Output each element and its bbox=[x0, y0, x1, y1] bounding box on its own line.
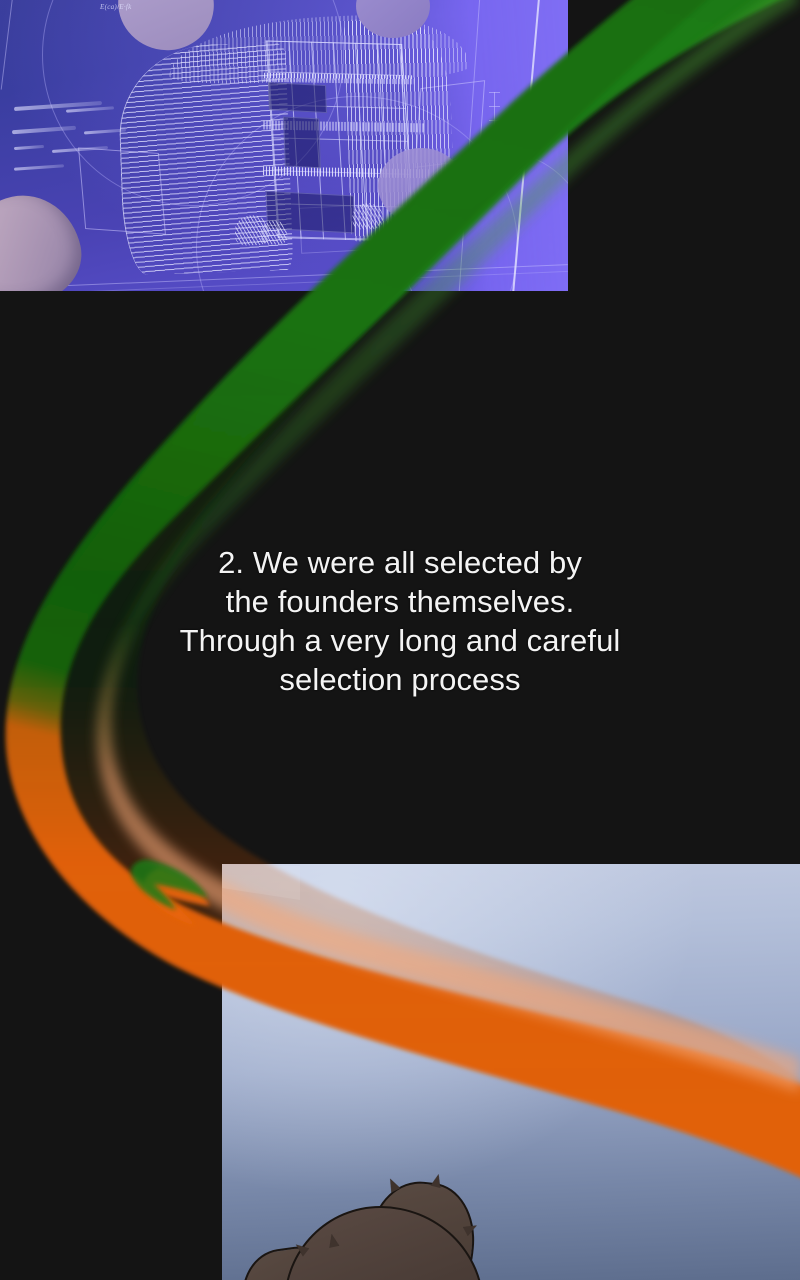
ribbon-fold-flick bbox=[144, 868, 210, 926]
caption-line: 2. We were all selected by bbox=[0, 543, 800, 582]
comic-page: E(ca)/E·fk bbox=[0, 0, 800, 1280]
building-shrub bbox=[352, 203, 383, 230]
building-window-dark bbox=[283, 116, 321, 168]
building-entrance bbox=[268, 82, 327, 113]
blueprint-note-label: E(ca)/E·fk bbox=[100, 3, 132, 11]
ribbon-fold-green bbox=[131, 860, 208, 910]
caption-line: the founders themselves. bbox=[0, 582, 800, 621]
blueprint-building-sketch bbox=[116, 12, 455, 275]
desk-object-blob bbox=[378, 148, 464, 224]
sky-panel bbox=[222, 864, 800, 1280]
dog-character bbox=[242, 1162, 532, 1280]
caption-line: Through a very long and careful bbox=[0, 621, 800, 660]
caption-line: selection process bbox=[0, 660, 800, 699]
caption-text: 2. We were all selected by the founders … bbox=[0, 543, 800, 699]
blueprint-scale-bar bbox=[494, 92, 495, 184]
building-shrub bbox=[261, 220, 288, 245]
blueprint-panel: E(ca)/E·fk bbox=[0, 0, 568, 291]
